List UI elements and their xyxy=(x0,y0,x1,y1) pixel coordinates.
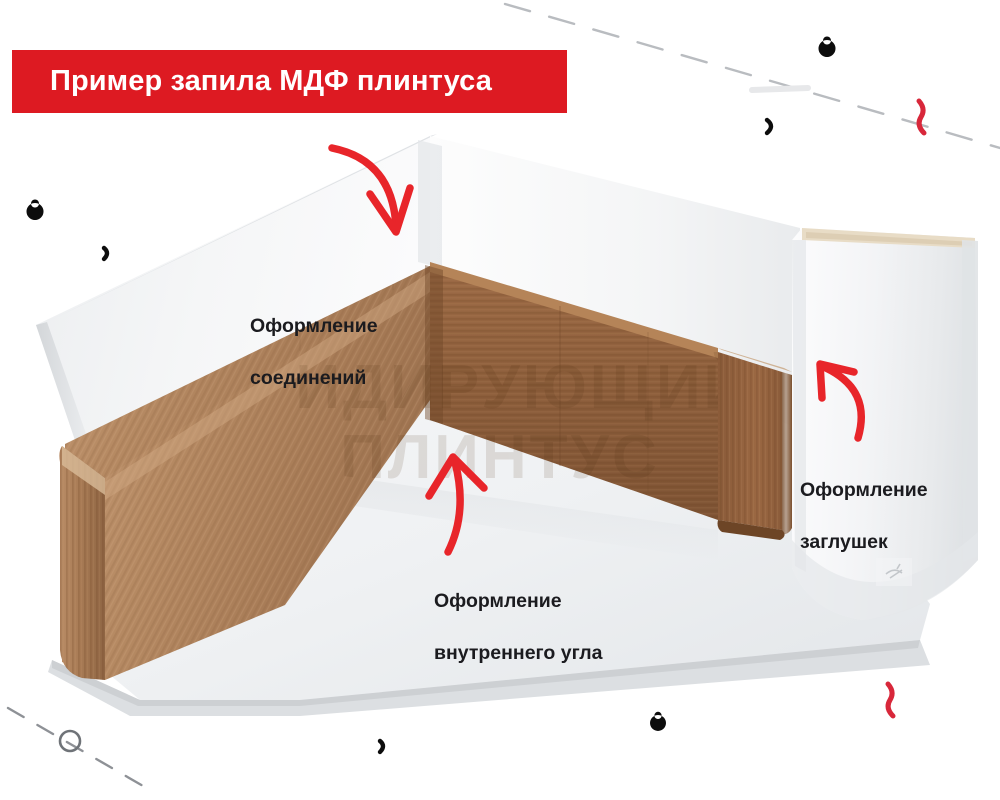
annotation-end-cap-line-1: Оформление xyxy=(800,478,928,504)
annotation-end-cap-line-2: заглушек xyxy=(800,530,928,556)
title-banner: Пример запила МДФ плинтуса xyxy=(12,50,567,113)
annotation-joints-line-2: соединений xyxy=(250,366,378,392)
page-title: Пример запила МДФ плинтуса xyxy=(50,65,492,98)
annotation-joints: Оформление соединений xyxy=(250,288,378,418)
annotation-inner-corner: Оформление внутреннего угла xyxy=(434,563,602,693)
annotation-end-cap: Оформление заглушек xyxy=(800,452,928,582)
screenshot-root: ЛИДИРУЮЩИЙ ПЛИНТУС Пример запила МДФ пли… xyxy=(0,0,1000,800)
annotation-inner-corner-line-2: внутреннего угла xyxy=(434,641,602,667)
annotation-inner-corner-line-1: Оформление xyxy=(434,589,602,615)
annotation-joints-line-1: Оформление xyxy=(250,314,378,340)
